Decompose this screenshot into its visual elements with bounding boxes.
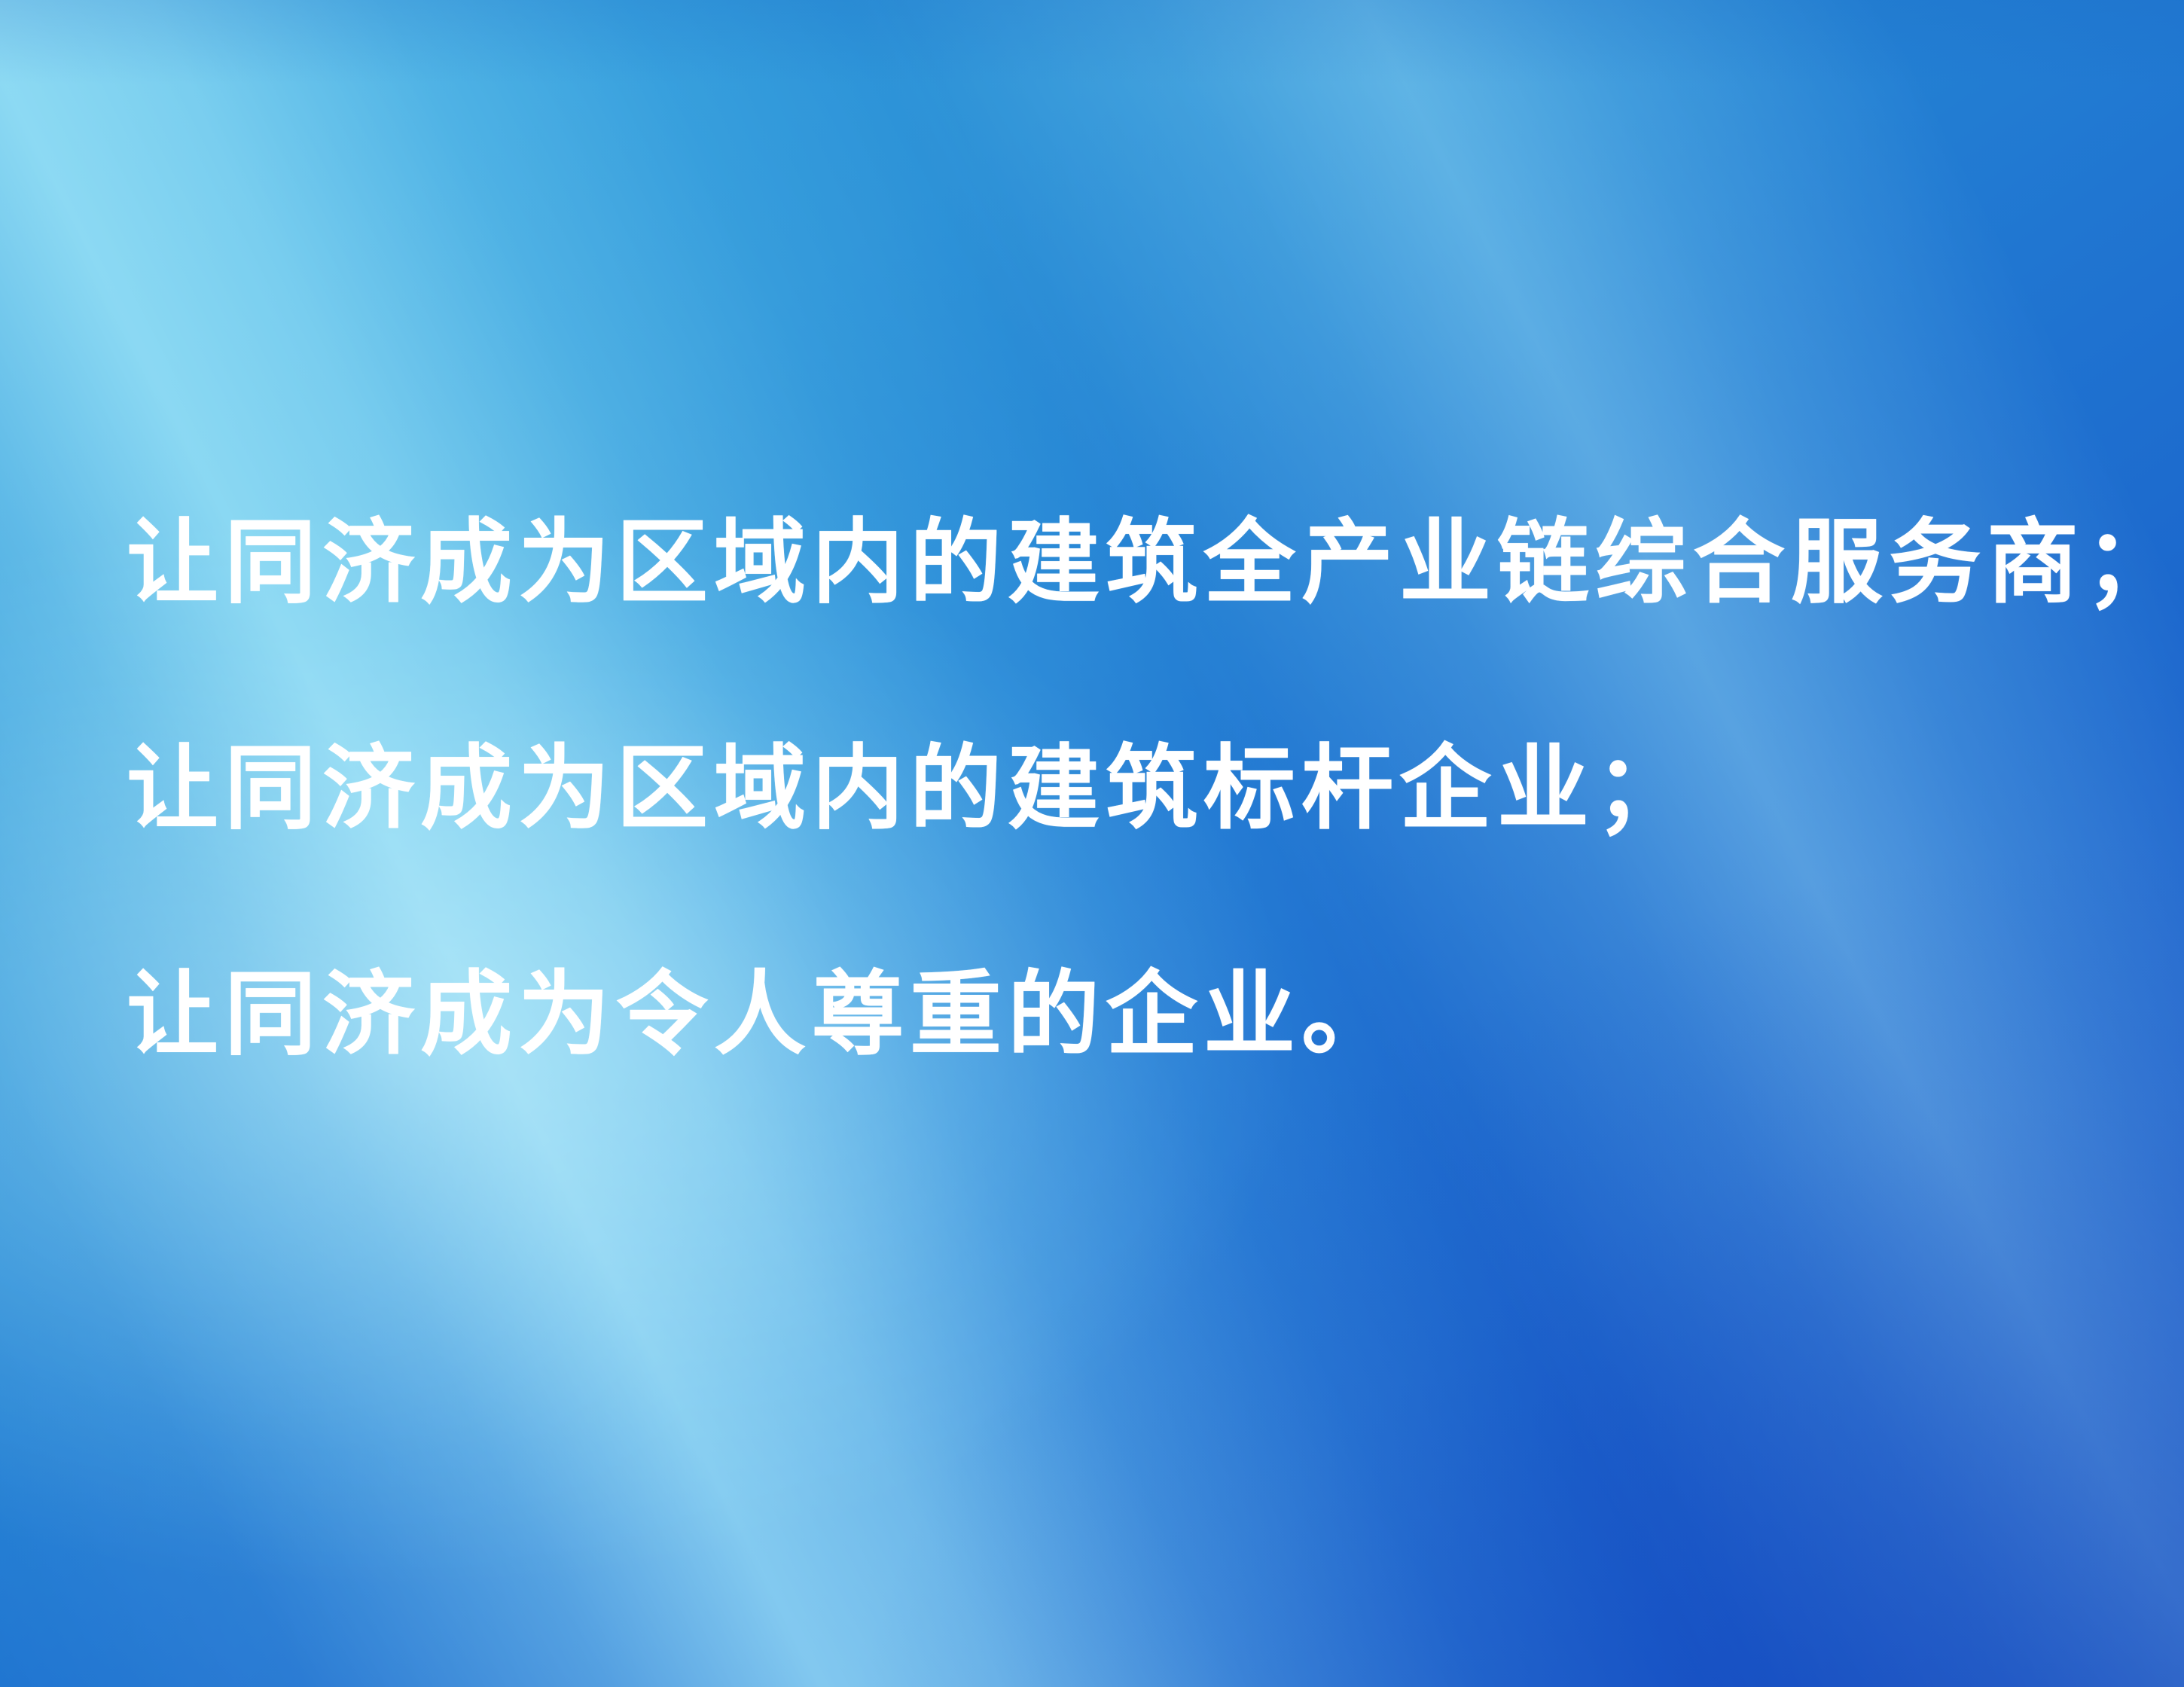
- slide-line-2: 让同济成为区域内的建筑标杆企业；: [127, 675, 2085, 901]
- slide-text-block: 让同济成为区域内的建筑全产业链综合服务商； 让同济成为区域内的建筑标杆企业； 让…: [127, 449, 2085, 1127]
- slide-line-3: 让同济成为令人尊重的企业。: [127, 901, 2085, 1127]
- slide-line-1: 让同济成为区域内的建筑全产业链综合服务商；: [127, 449, 2085, 675]
- presentation-slide: 让同济成为区域内的建筑全产业链综合服务商； 让同济成为区域内的建筑标杆企业； 让…: [0, 0, 2184, 1687]
